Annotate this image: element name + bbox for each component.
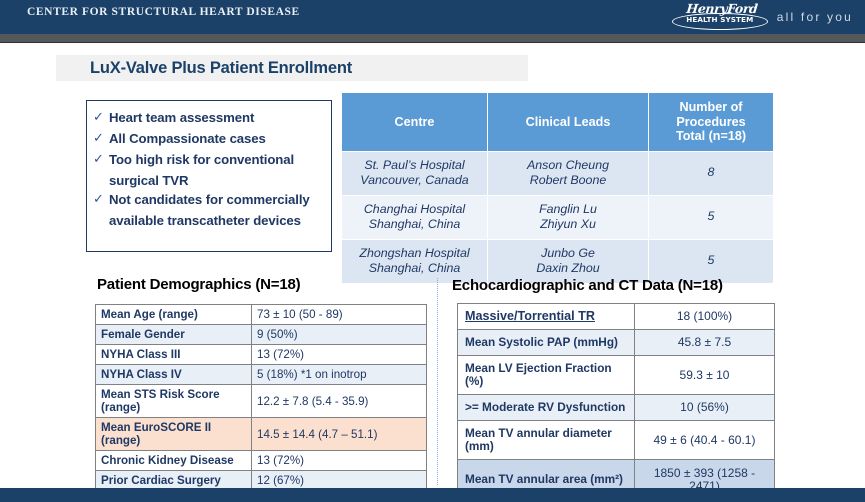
demographic-value: 13 (72%) [252, 451, 427, 471]
col-header-procedures-line: Number of [653, 100, 769, 115]
logo-tagline: all for you [777, 10, 853, 24]
col-header-clinical-leads: Clinical Leads [488, 93, 649, 152]
procedures-count-cell: 8 [649, 151, 774, 195]
check-icon: ✓ [93, 190, 109, 209]
demographic-label: Female Gender [96, 325, 252, 345]
echo-value: 10 (56%) [635, 395, 775, 421]
clinical-leads-line: Junbo Ge [492, 246, 644, 262]
demographics-heading: Patient Demographics (N=18) [97, 276, 300, 293]
table-row: Mean Systolic PAP (mmHg)45.8 ± 7.5 [458, 330, 775, 356]
criteria-item: ✓All Compassionate cases [93, 129, 325, 148]
centre-cell-line: St. Paul’s Hospital [346, 158, 483, 174]
slide-title-bar: LuX-Valve Plus Patient Enrollment [56, 55, 528, 81]
demographic-value: 73 ± 10 (50 - 89) [252, 305, 427, 325]
echo-value: 45.8 ± 7.5 [635, 330, 775, 356]
clinical-leads-line: Fanglin Lu [492, 202, 644, 218]
demographic-value: 12.2 ± 7.8 (5.4 - 35.9) [252, 385, 427, 418]
section-divider [437, 278, 438, 485]
centre-table-header-row: Centre Clinical Leads Number ofProcedure… [342, 93, 774, 152]
centre-cell: Changhai HospitalShanghai, China [342, 195, 488, 239]
echo-ct-data-table: Massive/Torrential TR18 (100%)Mean Systo… [457, 303, 775, 500]
col-header-procedures-line: Total (n=18) [653, 129, 769, 144]
demographic-label: Mean STS Risk Score (range) [96, 385, 252, 418]
clinical-leads-line: Zhiyun Xu [492, 217, 644, 233]
demographic-label: Mean EuroSCORE II (range) [96, 418, 252, 451]
table-row: Mean EuroSCORE II (range)14.5 ± 14.4 (4.… [96, 418, 427, 451]
clinical-leads-line: Daxin Zhou [492, 261, 644, 277]
echo-value: 18 (100%) [635, 304, 775, 330]
echo-heading: Echocardiographic and CT Data (N=18) [452, 277, 723, 294]
criteria-item-label: Heart team assessment [109, 108, 254, 127]
table-row: NYHA Class III13 (72%) [96, 345, 427, 365]
table-row: Mean STS Risk Score (range)12.2 ± 7.8 (5… [96, 385, 427, 418]
page-title: LuX-Valve Plus Patient Enrollment [90, 59, 352, 78]
centre-cell-line: Zhongshan Hospital [346, 246, 483, 262]
criteria-item-label: Not candidates for commercially [109, 190, 310, 209]
table-row: St. Paul’s HospitalVancouver, CanadaAnso… [342, 151, 774, 195]
criteria-item-label-cont: surgical TVR [109, 171, 325, 190]
clinical-leads-line: Anson Cheung [492, 158, 644, 174]
procedures-count-cell: 5 [649, 195, 774, 239]
footer-band [0, 488, 865, 502]
col-header-procedures: Number ofProceduresTotal (n=18) [649, 93, 774, 152]
table-row: Mean Age (range)73 ± 10 (50 - 89) [96, 305, 427, 325]
demographic-label: NYHA Class III [96, 345, 252, 365]
table-row: Changhai HospitalShanghai, ChinaFanglin … [342, 195, 774, 239]
demographic-label: Mean Age (range) [96, 305, 252, 325]
criteria-item-label: Too high risk for conventional [109, 150, 294, 169]
check-icon: ✓ [93, 150, 109, 169]
centre-cell: St. Paul’s HospitalVancouver, Canada [342, 151, 488, 195]
header-sub-band [0, 34, 865, 43]
check-icon: ✓ [93, 129, 109, 148]
table-row: >= Moderate RV Dysfunction10 (56%) [458, 395, 775, 421]
demographic-value: 9 (50%) [252, 325, 427, 345]
criteria-item-label-cont: available transcatheter devices [109, 211, 325, 230]
centre-cell-line: Vancouver, Canada [346, 173, 483, 189]
criteria-item: ✓Too high risk for conventional [93, 150, 325, 169]
echo-label: Massive/Torrential TR [458, 304, 635, 330]
echo-label: >= Moderate RV Dysfunction [458, 395, 635, 421]
table-row: Massive/Torrential TR18 (100%) [458, 304, 775, 330]
centre-table: Centre Clinical Leads Number ofProcedure… [341, 92, 774, 284]
centre-cell-line: Changhai Hospital [346, 202, 483, 218]
centre-cell-line: Shanghai, China [346, 217, 483, 233]
col-header-centre: Centre [342, 93, 488, 152]
table-row: NYHA Class IV5 (18%) *1 on inotrop [96, 365, 427, 385]
table-row: Chronic Kidney Disease13 (72%) [96, 451, 427, 471]
table-row: Female Gender9 (50%) [96, 325, 427, 345]
criteria-item: ✓Not candidates for commercially [93, 190, 325, 209]
clinical-leads-line: Robert Boone [492, 173, 644, 189]
echo-value: 49 ± 6 (40.4 - 60.1) [635, 421, 775, 460]
center-name: Center for Structural Heart Disease [27, 6, 300, 18]
centre-cell-line: Shanghai, China [346, 261, 483, 277]
check-icon: ✓ [93, 108, 109, 127]
echo-label: Mean LV Ejection Fraction (%) [458, 356, 635, 395]
clinical-leads-cell: Fanglin LuZhiyun Xu [488, 195, 649, 239]
criteria-item: ✓Heart team assessment [93, 108, 325, 127]
henry-ford-logo: HenryFord Health System all for you [672, 1, 853, 33]
table-row: Mean LV Ejection Fraction (%)59.3 ± 10 [458, 356, 775, 395]
logo-mark: HenryFord Health System [672, 1, 768, 33]
patient-demographics-table: Mean Age (range)73 ± 10 (50 - 89)Female … [95, 304, 427, 502]
echo-label: Mean TV annular diameter (mm) [458, 421, 635, 460]
demographic-label: Chronic Kidney Disease [96, 451, 252, 471]
echo-value: 59.3 ± 10 [635, 356, 775, 395]
demographic-value: 14.5 ± 14.4 (4.7 – 51.1) [252, 418, 427, 451]
echo-label: Mean Systolic PAP (mmHg) [458, 330, 635, 356]
demographic-value: 13 (72%) [252, 345, 427, 365]
col-header-procedures-line: Procedures [653, 115, 769, 130]
demographic-label: NYHA Class IV [96, 365, 252, 385]
criteria-item-label: All Compassionate cases [109, 129, 266, 148]
slide: Center for Structural Heart Disease Henr… [0, 0, 865, 502]
table-row: Mean TV annular diameter (mm)49 ± 6 (40.… [458, 421, 775, 460]
demographic-value: 5 (18%) *1 on inotrop [252, 365, 427, 385]
clinical-leads-cell: Anson CheungRobert Boone [488, 151, 649, 195]
logo-oval-text: Health System [672, 15, 768, 24]
enrollment-criteria-box: ✓Heart team assessment✓All Compassionate… [86, 100, 332, 252]
